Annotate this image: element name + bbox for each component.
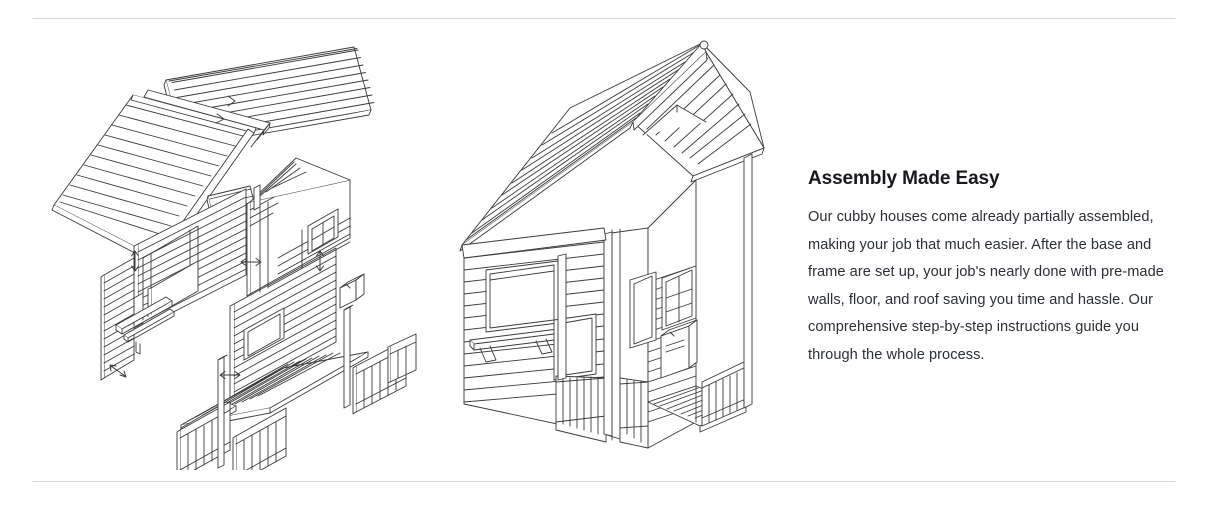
porch-railing-right — [702, 360, 748, 426]
porch-railing-front-right — [620, 378, 648, 448]
small-box-component — [340, 274, 364, 308]
section-divider-bottom — [33, 481, 1175, 482]
assembly-text-column: Assembly Made Easy Our cubby houses come… — [808, 30, 1175, 369]
veranda-post-right — [744, 154, 752, 408]
veranda-post-center — [604, 232, 612, 436]
porch-railing-front-left — [556, 376, 606, 442]
section-content: Assembly Made Easy Our cubby houses come… — [33, 30, 1175, 470]
assembly-section: Assembly Made Easy Our cubby houses come… — [0, 0, 1216, 514]
exploded-cubby-diagram — [38, 30, 438, 470]
right-wall-window-tall — [630, 272, 656, 348]
corner-post-far — [254, 185, 260, 210]
left-wall-window — [486, 261, 558, 332]
section-heading: Assembly Made Easy — [808, 168, 1175, 190]
veranda-post-left — [558, 254, 566, 380]
section-divider-top — [33, 18, 1175, 19]
railing-rear-right — [388, 334, 416, 383]
assembled-cubby-diagram — [448, 30, 778, 470]
section-body: Our cubby houses come already partially … — [808, 204, 1175, 369]
